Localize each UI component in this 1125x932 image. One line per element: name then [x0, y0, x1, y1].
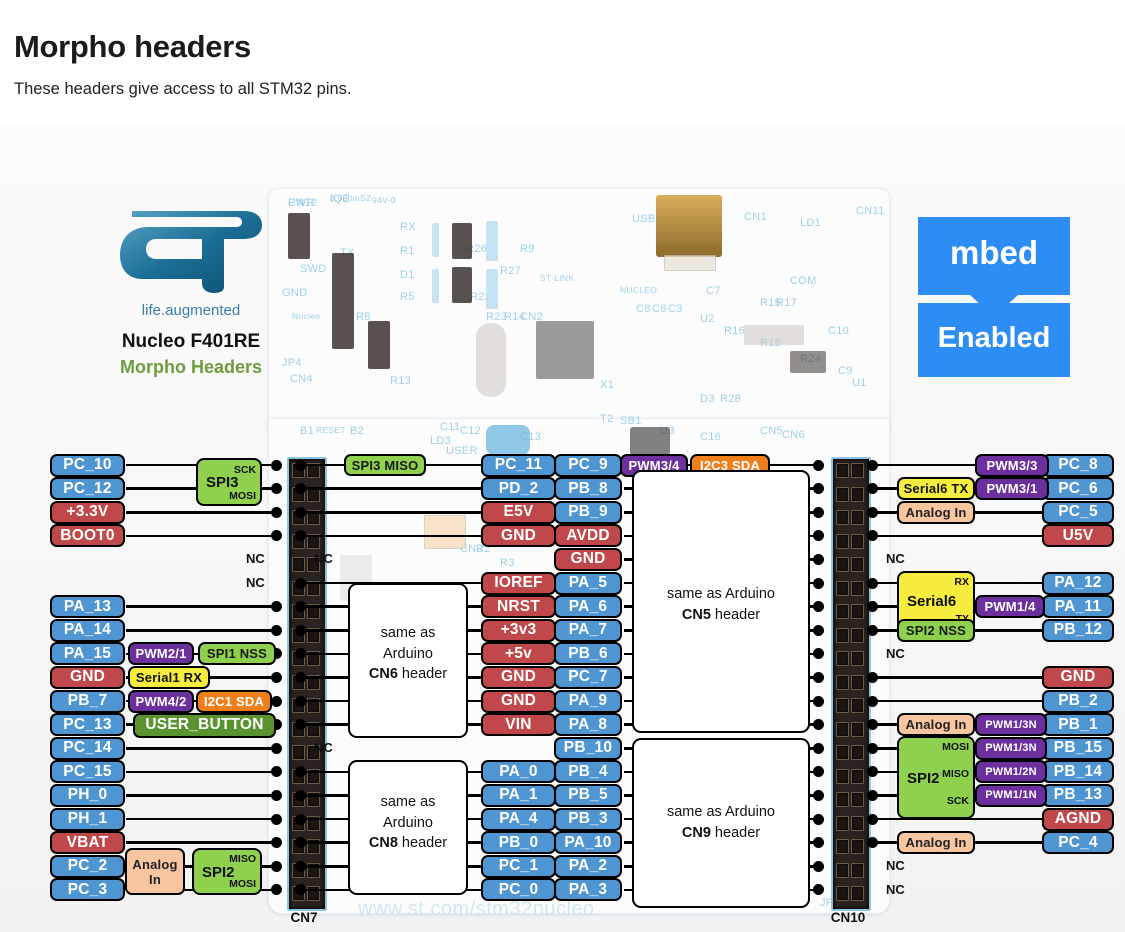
pin-PA_5-cn10l[interactable]: PA_5: [554, 572, 622, 595]
function-pwm3-3[interactable]: PWM3/3: [975, 454, 1049, 477]
pin-PB_6-cn10l[interactable]: PB_6: [554, 642, 622, 665]
function-spi2-right[interactable]: SPI2MOSIMISOSCK: [897, 736, 975, 819]
silkscreen-text: RESET: [316, 425, 346, 435]
pin-PA_9-cn10l[interactable]: PA_9: [554, 690, 622, 713]
silkscreen-text: U1: [852, 377, 867, 389]
nc-label-cn10r-18: NC: [886, 882, 905, 897]
pin-GND-cn10l[interactable]: GND: [554, 548, 622, 571]
silkscreen-text: Nucleo: [292, 311, 320, 321]
function-pwm1-4[interactable]: PWM1/4: [975, 595, 1045, 618]
function-pwm3-1[interactable]: PWM3/1: [975, 477, 1049, 500]
pin-IOREF-cn7r[interactable]: IOREF: [481, 572, 556, 595]
pin-VBAT-cn7l[interactable]: VBAT: [50, 831, 125, 854]
silkscreen-text: B1: [300, 425, 314, 437]
pin-PA_12-cn10r[interactable]: PA_12: [1042, 572, 1114, 595]
silkscreen-text: D3: [700, 393, 715, 405]
pin-PC_9-cn10l[interactable]: PC_9: [554, 454, 622, 477]
pin-PB_3-cn10l[interactable]: PB_3: [554, 808, 622, 831]
page-subtitle: These headers give access to all STM32 p…: [14, 80, 352, 99]
board-component: [452, 223, 472, 259]
pin-wire: [126, 771, 276, 774]
silkscreen-text: R13: [390, 375, 411, 387]
pin-PB_15-cn10r[interactable]: PB_15: [1042, 737, 1114, 760]
silkscreen-text: C6: [652, 303, 667, 315]
silkscreen-text: R16: [724, 325, 745, 337]
morpho-header-diagram: CN12IQE94V-0SWDGNDNucleoJP4CN4TXRXR1D1R5…: [0, 125, 1125, 932]
function-serial6-tx[interactable]: Serial6 TX: [897, 477, 975, 500]
board-sub-label: Morpho Headers: [96, 357, 286, 378]
pin-GND-cn10r[interactable]: GND: [1042, 666, 1114, 689]
pin-33V-cn7l[interactable]: +3.3V: [50, 501, 125, 524]
silkscreen-text: 8.000mSZ: [330, 193, 372, 203]
pin-5v-cn7r[interactable]: +5v: [481, 642, 556, 665]
pin-PB_8-cn10l[interactable]: PB_8: [554, 477, 622, 500]
silkscreen-text: R17: [776, 297, 797, 309]
function-spi3[interactable]: SPI3SCKMOSI: [196, 458, 262, 506]
pin-wire: [126, 747, 276, 750]
board-component: [288, 213, 310, 259]
pin-PC_15-cn7l[interactable]: PC_15: [50, 760, 125, 783]
board-trace: [432, 223, 439, 257]
silkscreen-text: B2: [350, 425, 364, 437]
function-analog-in-r3[interactable]: Analog In: [897, 831, 975, 854]
pin-PC_3-cn7l[interactable]: PC_3: [50, 878, 125, 901]
pin-E5V-cn7r[interactable]: E5V: [481, 501, 556, 524]
silkscreen-text: C7: [706, 285, 721, 297]
pin-PB_14-cn10r[interactable]: PB_14: [1042, 760, 1114, 783]
pin-PC_2-cn7l[interactable]: PC_2: [50, 855, 125, 878]
pin-wire: [126, 794, 276, 797]
pin-3v3-cn7r[interactable]: +3v3: [481, 619, 556, 642]
nc-label-cn10r-4: NC: [886, 551, 905, 566]
silkscreen-text: CN4: [290, 373, 313, 385]
silkscreen-text: USB: [632, 213, 656, 225]
pin-PA_6-cn10l[interactable]: PA_6: [554, 595, 622, 618]
silkscreen-text: C16: [700, 431, 721, 443]
board-component: [790, 351, 826, 373]
pin-AGND-cn10r[interactable]: AGND: [1042, 808, 1114, 831]
pin-PA_7-cn10l[interactable]: PA_7: [554, 619, 622, 642]
silkscreen-text: NUCLEO: [620, 285, 657, 295]
silkscreen-text: SB1: [620, 415, 642, 427]
st-logo-icon: [116, 203, 266, 295]
board-reset-button: [630, 427, 670, 455]
pin-U5V-cn10r[interactable]: U5V: [1042, 524, 1114, 547]
pin-wire: [300, 511, 481, 514]
pin-PB_1-cn10r[interactable]: PB_1: [1042, 713, 1114, 736]
board-component: [368, 321, 390, 369]
function-spi3-miso[interactable]: SPI3 MISO: [344, 454, 426, 476]
pin-wire: [126, 535, 276, 538]
pin-PA_1-cn7r[interactable]: PA_1: [481, 784, 556, 807]
nc-label-cn10r-17: NC: [886, 858, 905, 873]
group-box-cn6-text: same asArduinoCN6 header: [350, 623, 466, 685]
silkscreen-text: C10: [828, 325, 849, 337]
group-box-cn5: same as ArduinoCN5 header: [632, 470, 810, 733]
pin-GND-cn7l[interactable]: GND: [50, 666, 125, 689]
silkscreen-text: R1: [400, 245, 415, 257]
silkscreen-text: CN6: [782, 429, 805, 441]
group-box-cn8: same asArduinoCN8 header: [348, 760, 468, 895]
silkscreen-text: R3: [500, 557, 515, 569]
pin-PA_14-cn7l[interactable]: PA_14: [50, 619, 125, 642]
pin-NRST-cn7r[interactable]: NRST: [481, 595, 556, 618]
pin-PB_5-cn10l[interactable]: PB_5: [554, 784, 622, 807]
pin-PC_14-cn7l[interactable]: PC_14: [50, 737, 125, 760]
pin-PA_2-cn10l[interactable]: PA_2: [554, 855, 622, 878]
pin-wire: [126, 629, 276, 632]
function-pwm1-2n[interactable]: PWM1/2N: [975, 760, 1047, 783]
group-box-cn9: same as ArduinoCN9 header: [632, 738, 810, 908]
pin-PB_12-cn10r[interactable]: PB_12: [1042, 619, 1114, 642]
mbed-logo-bottom: Enabled: [918, 303, 1070, 377]
pin-PC_12-cn7l[interactable]: PC_12: [50, 477, 125, 500]
silkscreen-text: SWD: [300, 263, 327, 275]
board-trace: [486, 221, 498, 261]
group-box-cn6: same asArduinoCN6 header: [348, 583, 468, 738]
pin-PA_15-cn7l[interactable]: PA_15: [50, 642, 125, 665]
silkscreen-text: R28: [720, 393, 741, 405]
silkscreen-text: C12: [460, 425, 481, 437]
function-pwm1-1n[interactable]: PWM1/1N: [975, 784, 1047, 807]
pin-PC_5-cn10r[interactable]: PC_5: [1042, 501, 1114, 524]
nc-label-cn7r-12: NC: [314, 740, 333, 755]
silkscreen-text: CN1: [744, 211, 767, 223]
pin-PC_13-cn7l[interactable]: PC_13: [50, 713, 125, 736]
st-tagline: life.augmented: [96, 302, 286, 319]
silkscreen-text: CN11: [856, 205, 885, 217]
board-mcu-chip: [536, 321, 594, 379]
function-spi2-nss[interactable]: SPI2 NSS: [897, 619, 975, 642]
pin-AVDD-cn10l[interactable]: AVDD: [554, 524, 622, 547]
pin-PA_13-cn7l[interactable]: PA_13: [50, 595, 125, 618]
nc-label-cn10r-8: NC: [886, 646, 905, 661]
group-box-cn9-text: same as ArduinoCN9 header: [634, 802, 808, 843]
silkscreen-text: PWR: [288, 197, 315, 209]
group-box-cn5-text: same as ArduinoCN5 header: [634, 584, 808, 625]
function-pwm2-1[interactable]: PWM2/1: [128, 642, 194, 665]
pin-PA_4-cn7r[interactable]: PA_4: [481, 808, 556, 831]
silkscreen-text: CN5: [760, 425, 783, 437]
silkscreen-text: C3: [668, 303, 683, 315]
connector-cn7-label: CN7: [274, 910, 334, 925]
pin-wire: [872, 700, 1042, 703]
silkscreen-text: D1: [400, 269, 415, 281]
pin-PC_6-cn10r[interactable]: PC_6: [1042, 477, 1114, 500]
board-pad: [424, 515, 466, 549]
silkscreen-text: C8: [636, 303, 651, 315]
pin-PC_0-cn7r[interactable]: PC_0: [481, 878, 556, 901]
pin-GND-cn7r[interactable]: GND: [481, 666, 556, 689]
pin-BOOT0-cn7l[interactable]: BOOT0: [50, 524, 125, 547]
pin-wire: [126, 818, 276, 821]
mbed-logo-top: mbed: [918, 217, 1070, 295]
silkscreen-text: R27: [500, 265, 521, 277]
mbed-enabled-logo: mbed Enabled: [918, 217, 1070, 377]
function-spi2-left[interactable]: SPI2MISOMOSI: [192, 848, 262, 895]
silkscreen-text: 94V-0: [372, 195, 396, 205]
board-url-watermark: www.st.com/stm32nucleo: [358, 898, 595, 921]
pin-PC_7-cn10l[interactable]: PC_7: [554, 666, 622, 689]
board-usb-connector: [656, 195, 722, 257]
board-name-label: Nucleo F401RE: [96, 331, 286, 353]
nc-label-cn7r-4: NC: [314, 551, 333, 566]
pin-wire: [126, 841, 276, 844]
pin-wire: [872, 676, 1042, 679]
function-pwm1-3n-a[interactable]: PWM1/3N: [975, 713, 1047, 736]
pin-PA_3-cn10l[interactable]: PA_3: [554, 878, 622, 901]
pin-PA_10-cn10l[interactable]: PA_10: [554, 831, 622, 854]
silkscreen-text: U2: [700, 313, 715, 325]
pin-PA_11-cn10r[interactable]: PA_11: [1042, 595, 1114, 618]
connector-cn10-label: CN10: [818, 910, 878, 925]
pin-PA_0-cn7r[interactable]: PA_0: [481, 760, 556, 783]
function-user-button[interactable]: USER_BUTTON: [133, 713, 276, 738]
board-trace: [432, 269, 439, 303]
pin-wire: [872, 535, 1042, 538]
pin-PB_10-cn10l[interactable]: PB_10: [554, 737, 622, 760]
pin-PB_0-cn7r[interactable]: PB_0: [481, 831, 556, 854]
group-box-cn8-text: same asArduinoCN8 header: [350, 792, 466, 854]
board-component: [332, 253, 354, 349]
board-crystal: [476, 323, 506, 397]
silkscreen-text: LD1: [800, 217, 821, 229]
page-title: Morpho headers: [14, 29, 251, 65]
function-analog-in-r1[interactable]: Analog In: [897, 501, 975, 524]
silkscreen-text: ST-LINK: [540, 273, 574, 283]
silkscreen-text: X1: [600, 379, 614, 391]
function-pwm4-2[interactable]: PWM4/2: [128, 690, 194, 713]
board-trace: [486, 269, 498, 309]
st-logo-block: life.augmented Nucleo F401RE Morpho Head…: [96, 203, 286, 403]
pin-PC_10-cn7l[interactable]: PC_10: [50, 454, 125, 477]
pin-wire: [126, 605, 276, 608]
silkscreen-text: R5: [400, 291, 415, 303]
pin-PH_1-cn7l[interactable]: PH_1: [50, 808, 125, 831]
connector-cn10[interactable]: [831, 457, 871, 911]
function-i2c1-sda[interactable]: I2C1 SDA: [196, 690, 272, 713]
silkscreen-text: C9: [838, 365, 853, 377]
board-component: [744, 325, 804, 345]
pin-wire: [300, 487, 481, 490]
silkscreen-text: C11: [440, 421, 460, 433]
nc-label-cn7l-5: NC: [246, 575, 265, 590]
silkscreen-text: T2: [600, 413, 613, 425]
function-analog-in-left[interactable]: AnalogIn: [125, 848, 185, 895]
pin-PB_9-cn10l[interactable]: PB_9: [554, 501, 622, 524]
pin-PB_13-cn10r[interactable]: PB_13: [1042, 784, 1114, 807]
function-analog-in-r2[interactable]: Analog In: [897, 713, 975, 736]
pin-VIN-cn7r[interactable]: VIN: [481, 713, 556, 736]
pin-PC_8-cn10r[interactable]: PC_8: [1042, 454, 1114, 477]
pin-PH_0-cn7l[interactable]: PH_0: [50, 784, 125, 807]
pin-wire: [126, 511, 276, 514]
function-serial1-rx[interactable]: Serial1 RX: [128, 666, 210, 689]
function-spi1-nss[interactable]: SPI1 NSS: [198, 642, 276, 665]
silkscreen-text: RX: [400, 221, 416, 233]
pin-PB_4-cn10l[interactable]: PB_4: [554, 760, 622, 783]
pin-PA_8-cn10l[interactable]: PA_8: [554, 713, 622, 736]
nc-label-cn7l-4: NC: [246, 551, 265, 566]
function-pwm1-3n-b[interactable]: PWM1/3N: [975, 737, 1047, 760]
board-component: [452, 267, 472, 303]
board-pad: [664, 255, 716, 271]
mbed-top-label: mbed: [918, 217, 1070, 289]
page-root: Morpho headers These headers give access…: [0, 0, 1125, 932]
silkscreen-text: R9: [520, 243, 535, 255]
mbed-bottom-label: Enabled: [918, 303, 1070, 373]
pin-PB_7-cn7l[interactable]: PB_7: [50, 690, 125, 713]
pin-GND-cn7r[interactable]: GND: [481, 690, 556, 713]
silkscreen-text: USER: [446, 445, 478, 457]
pin-wire: [300, 535, 481, 538]
pin-PC_4-cn10r[interactable]: PC_4: [1042, 831, 1114, 854]
board-user-button: [486, 425, 530, 455]
silkscreen-text: COM: [790, 275, 817, 287]
pin-PC_1-cn7r[interactable]: PC_1: [481, 855, 556, 878]
pin-PB_2-cn10r[interactable]: PB_2: [1042, 690, 1114, 713]
pin-GND-cn7r[interactable]: GND: [481, 524, 556, 547]
pin-PD_2-cn7r[interactable]: PD_2: [481, 477, 556, 500]
pin-PC_11-cn7r[interactable]: PC_11: [481, 454, 556, 477]
